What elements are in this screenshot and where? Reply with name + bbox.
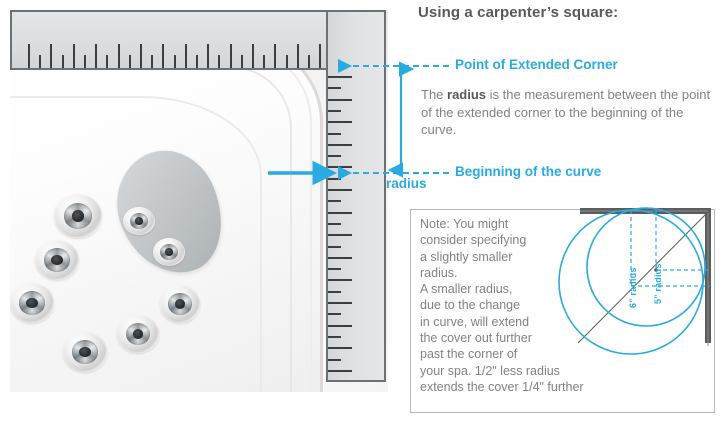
body-line1-pre: The bbox=[421, 87, 447, 102]
spa-jet bbox=[54, 194, 102, 238]
circle-5-inch-radius bbox=[587, 208, 705, 326]
spa-jet bbox=[35, 240, 79, 280]
spa-jet bbox=[123, 207, 155, 235]
radius-comparison-diagram: 6" radius 5" radius bbox=[548, 198, 725, 383]
page-title: Using a carpenter’s square: bbox=[418, 4, 618, 21]
spa-photo-image bbox=[10, 10, 388, 392]
radius-description: The radius is the measurement between th… bbox=[421, 86, 711, 139]
spa-jet bbox=[117, 315, 159, 353]
spa-jet bbox=[10, 283, 54, 323]
spa-jet bbox=[153, 238, 185, 266]
callout-point-of-extended-corner: Point of Extended Corner bbox=[455, 57, 618, 72]
diagram-label-6-radius: 6" radius bbox=[628, 267, 638, 308]
body-radius-bold: radius bbox=[447, 87, 486, 102]
body-line1-post: is the measurement bbox=[486, 87, 604, 102]
callout-radius: radius bbox=[386, 176, 427, 191]
callout-beginning-of-the-curve: Beginning of the curve bbox=[455, 164, 601, 179]
diagram-label-5-radius: 5" radius bbox=[653, 263, 663, 304]
spa-photo-panel bbox=[0, 0, 392, 395]
spa-jet bbox=[160, 285, 200, 323]
spa-jet bbox=[63, 332, 107, 372]
